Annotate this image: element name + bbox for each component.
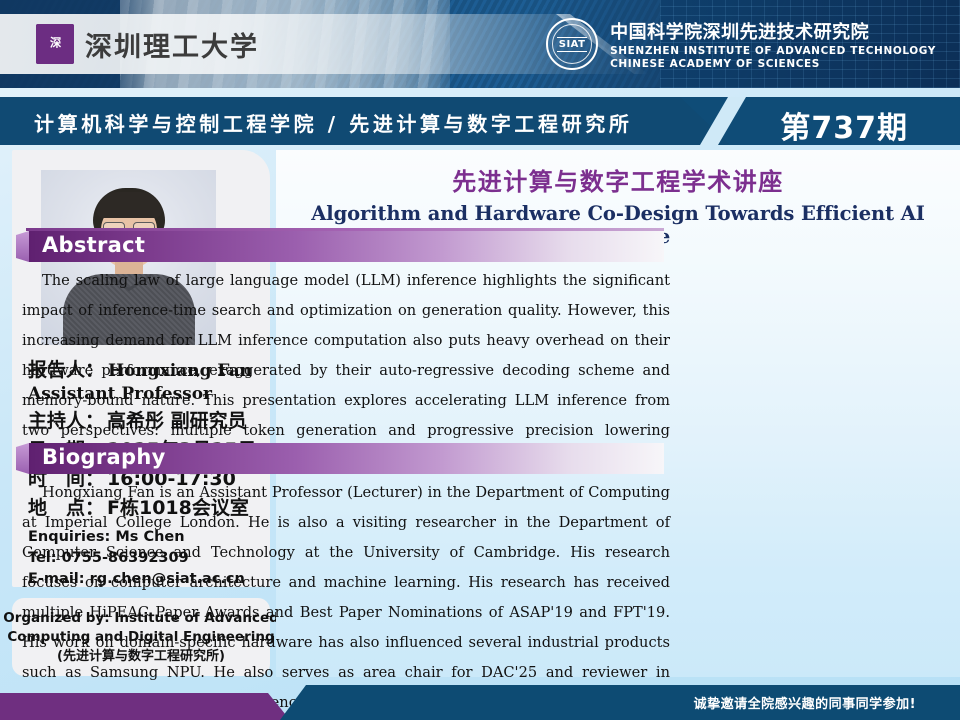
institute-name-en-line1: SHENZHEN INSTITUTE OF ADVANCED TECHNOLOG… (610, 45, 936, 57)
biography-body: Hongxiang Fan is an Assistant Professor … (22, 478, 670, 718)
institute-name-en-line2: CHINESE ACADEMY OF SCIENCES (610, 58, 936, 70)
siat-branding: SIAT 中国科学院深圳先进技术研究院 SHENZHEN INSTITUTE O… (546, 18, 936, 70)
seminar-poster: 深 深圳理工大学 SIAT 中国科学院深圳先进技术研究院 SHENZHEN IN… (0, 0, 960, 720)
university-name: 深圳理工大学 (85, 25, 259, 64)
siat-seal-icon: SIAT (546, 18, 598, 70)
biography-tab-marker (16, 443, 29, 474)
department-title: 计算机科学与控制工程学院 / 先进计算与数字工程研究所 (34, 108, 632, 137)
university-seal-icon: 深 (36, 24, 74, 64)
abstract-heading: Abstract (42, 233, 145, 257)
abstract-tab-marker (16, 231, 29, 262)
issue-number-badge: 第737期 (780, 103, 908, 147)
band-divider-slash (700, 97, 760, 145)
university-logo: 深 深圳理工大学 (36, 24, 259, 64)
footer-band: 诚挚邀请全院感兴趣的同事同学参加! (0, 685, 960, 720)
university-seal-glyph: 深 (50, 38, 60, 49)
series-title: 先进计算与数字工程学术讲座 (276, 162, 960, 197)
footer-invitation: 诚挚邀请全院感兴趣的同事同学参加! (694, 693, 916, 712)
siat-text-block: 中国科学院深圳先进技术研究院 SHENZHEN INSTITUTE OF ADV… (610, 18, 936, 70)
biography-heading: Biography (42, 445, 166, 469)
institute-name-cn: 中国科学院深圳先进技术研究院 (610, 18, 936, 44)
siat-seal-label: SIAT (557, 37, 588, 52)
footer-purple-bar (0, 693, 290, 720)
top-header-band: 深 深圳理工大学 SIAT 中国科学院深圳先进技术研究院 SHENZHEN IN… (0, 0, 960, 88)
portrait-hair-front (97, 192, 161, 218)
department-band: 计算机科学与控制工程学院 / 先进计算与数字工程研究所 第737期 (0, 97, 960, 145)
